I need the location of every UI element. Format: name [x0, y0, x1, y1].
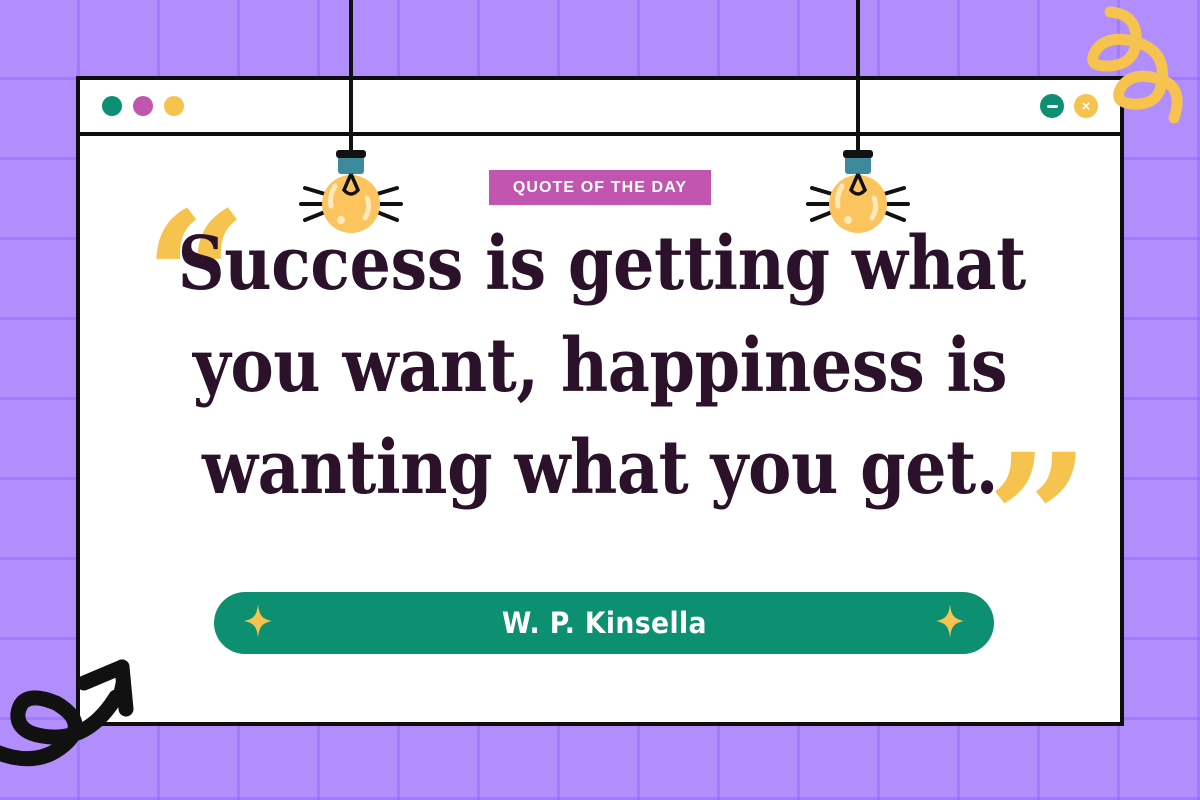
- card-body: QUOTE OF THE DAY “ ” Success is getting …: [80, 136, 1120, 718]
- dot-green-icon[interactable]: [102, 96, 122, 116]
- quote-block: “ ” Success is getting what you want, ha…: [120, 213, 1080, 519]
- bulb-cord-left: [349, 0, 353, 156]
- bulb-cord-right: [856, 0, 860, 156]
- author-name: W. P. Kinsella: [501, 606, 706, 640]
- minus-icon: [1047, 105, 1058, 108]
- quote-of-the-day-badge: QUOTE OF THE DAY: [489, 170, 711, 205]
- dot-pink-icon[interactable]: [133, 96, 153, 116]
- quote-line-2: you want, happiness is: [178, 315, 1023, 417]
- curly-arrow-doodle: [0, 633, 164, 778]
- sparkle-icon-left: [244, 604, 272, 643]
- window-title-bar: ×: [80, 80, 1120, 136]
- window-dots-group: [102, 96, 184, 116]
- sparkle-icon-right: [936, 604, 964, 643]
- quote-line-3: wanting what you get.: [178, 417, 1023, 519]
- author-pill[interactable]: W. P. Kinsella: [214, 592, 994, 654]
- yellow-squiggle-doodle: [1080, 0, 1200, 139]
- quote-card: × QUOTE OF THE DAY “ ” Success is gettin…: [76, 76, 1124, 726]
- dot-yellow-icon[interactable]: [164, 96, 184, 116]
- minimize-button[interactable]: [1040, 94, 1064, 118]
